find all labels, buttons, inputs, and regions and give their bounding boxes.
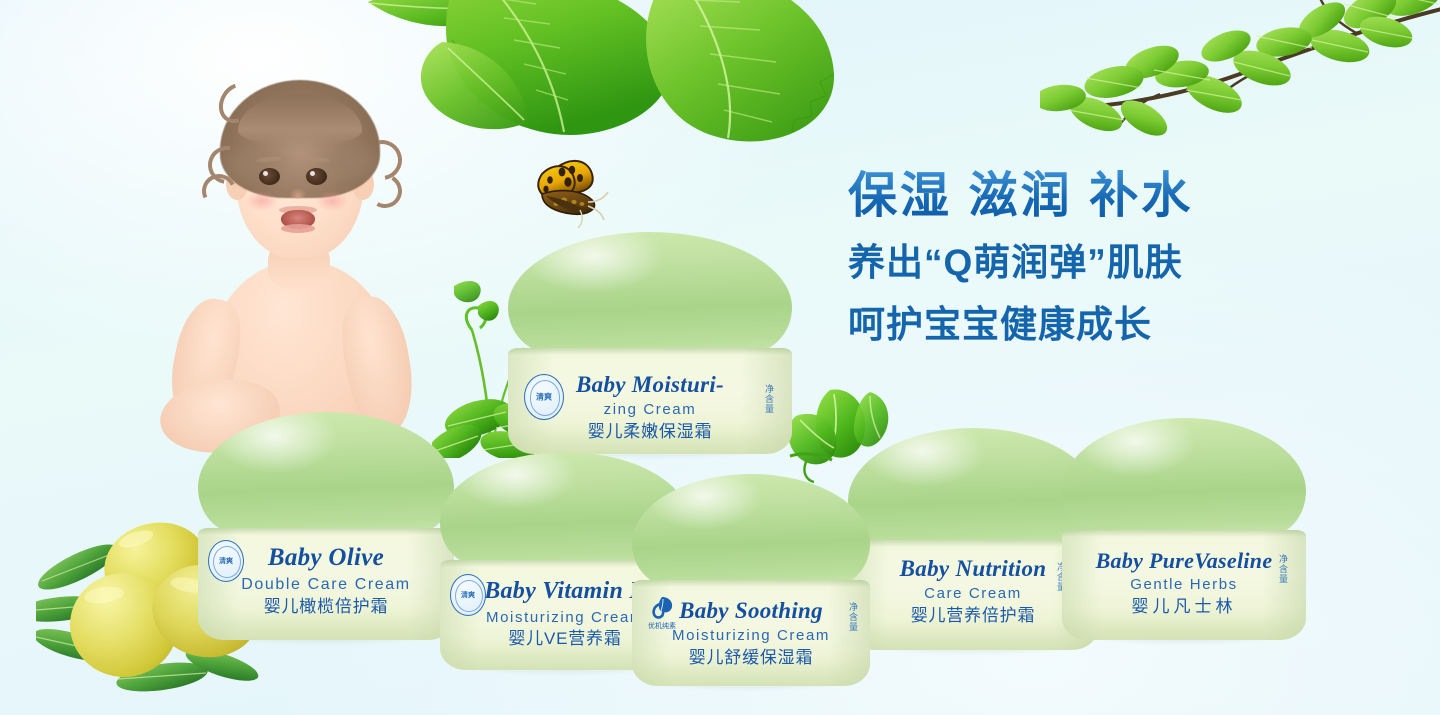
product-jar-pure-vaseline[interactable]: 净含量 Baby PureVaseline Gentle Herbs 婴儿凡士林	[1062, 418, 1306, 640]
headline-line-3: 呵护宝宝健康成长	[848, 301, 1278, 349]
net-weight-label: 净含量	[763, 384, 776, 414]
jar-lid	[1062, 418, 1306, 536]
net-weight-label: 净含量	[847, 602, 860, 632]
product-jar-moisturizing[interactable]: 清爽 净含量 Baby Moisturi- zing Cream 婴儿柔嫩保湿霜	[508, 232, 792, 454]
jar-lid	[198, 412, 454, 534]
baby-photo	[150, 28, 440, 448]
organic-label: 优机纯素	[640, 621, 684, 631]
organic-badge: 优机纯素	[640, 594, 684, 631]
product-name-en-1: Baby PureVaseline	[1062, 548, 1306, 573]
product-name-cn: 婴儿橄榄倍护霜	[198, 597, 454, 617]
product-name-en-2: Double Care Cream	[198, 576, 454, 594]
headline-line-2: 养出“Q萌润弹”肌肤	[848, 239, 1278, 287]
leaf-drop-icon	[649, 594, 675, 620]
quality-seal-badge: 清爽	[450, 574, 486, 616]
quality-seal-badge: 清爽	[524, 374, 564, 420]
product-name-en-2: Gentle Herbs	[1062, 576, 1306, 593]
jar-lid	[848, 428, 1098, 546]
net-weight-label: 净含量	[1277, 554, 1290, 584]
quality-seal-badge: 清爽	[208, 540, 244, 582]
leaf-branch-icon	[1040, 0, 1440, 140]
headline-block: 保湿 滋润 补水 养出“Q萌润弹”肌肤 呵护宝宝健康成长	[848, 168, 1278, 349]
product-name-cn: 婴儿凡士林	[1062, 597, 1306, 617]
product-name-cn: 婴儿营养倍护霜	[848, 606, 1098, 626]
butterfly-icon	[520, 158, 620, 236]
product-jar-nutrition[interactable]: 净含量 Baby Nutrition Care Cream 婴儿营养倍护霜	[848, 428, 1098, 650]
product-jar-olive[interactable]: 清爽 Baby Olive Double Care Cream 婴儿橄榄倍护霜	[198, 412, 454, 640]
jar-lid	[508, 232, 792, 354]
headline-line-1: 保湿 滋润 补水	[848, 168, 1278, 225]
product-jar-soothing[interactable]: 优机纯素 净含量 Baby Soothing Moisturizing Crea…	[632, 474, 870, 686]
product-name-cn: 婴儿柔嫩保湿霜	[508, 422, 792, 442]
promo-banner: 清爽 净含量 Baby Moisturi- zing Cream 婴儿柔嫩保湿霜…	[0, 0, 1440, 715]
jar-lid	[632, 474, 870, 586]
product-name-cn: 婴儿舒缓保湿霜	[632, 648, 870, 668]
